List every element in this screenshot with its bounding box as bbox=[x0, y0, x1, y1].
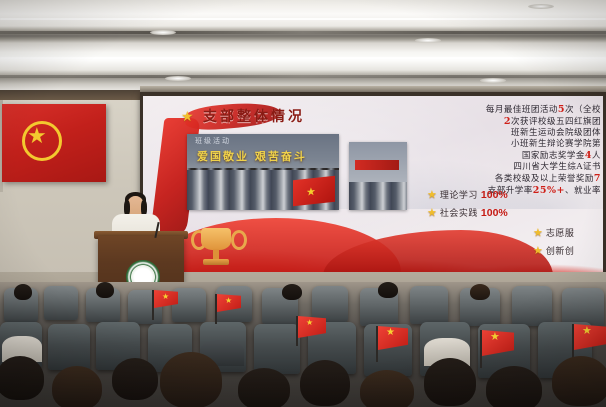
bullet-label: 创新创 bbox=[546, 244, 575, 257]
slide-bullet-list-secondary: ★ 志愿服 ★ 创新创 bbox=[533, 226, 603, 262]
trophy-handle bbox=[231, 230, 247, 250]
audience-head bbox=[14, 284, 32, 300]
flag-star-icon: ★ bbox=[490, 333, 500, 341]
bullet-item: ★ 社会实践 100% bbox=[427, 206, 557, 219]
slide-photo-main: 班级活动 爱国敬业 艰苦奋斗 ★ bbox=[187, 134, 339, 210]
trophy-base bbox=[203, 259, 229, 265]
bullet-label: 社会实践 bbox=[440, 206, 478, 219]
bullet-value: 100% bbox=[481, 207, 508, 219]
youth-league-flag: ★ bbox=[2, 104, 106, 182]
flag-pole bbox=[296, 316, 298, 346]
bullet-label: 理论学习 bbox=[440, 188, 478, 201]
trophy-cup bbox=[201, 228, 231, 250]
ceiling-fixture bbox=[528, 4, 554, 9]
audience-head bbox=[160, 352, 222, 407]
bullet-item: ★ 理论学习 100% bbox=[427, 188, 557, 201]
line-number: 5 bbox=[558, 104, 565, 115]
line-tail: 次（全校 bbox=[565, 105, 601, 115]
slide-title: 支部整体情况 bbox=[203, 106, 305, 126]
ceiling bbox=[0, 0, 606, 96]
line-tail: 人 bbox=[592, 151, 601, 161]
slide-text-line: 每月最佳班团活动5次（全校 bbox=[431, 104, 601, 116]
photo-caption-main: 爱国敬业 艰苦奋斗 bbox=[197, 148, 307, 164]
seat bbox=[44, 286, 78, 320]
bullet-value: 100% bbox=[481, 189, 508, 201]
slide-text-line: 2次获评校级五四红旗团 bbox=[431, 116, 601, 128]
bullet-star-icon: ★ bbox=[533, 244, 543, 257]
bullet-star-icon: ★ bbox=[533, 226, 543, 239]
flag-pole bbox=[376, 326, 378, 362]
line-tail: 次获评校级五四红旗团 bbox=[511, 117, 601, 127]
line-text: 国家励志奖学金 bbox=[522, 151, 585, 161]
audience-head bbox=[300, 360, 350, 406]
photo-caption-sub: 班级活动 bbox=[195, 136, 231, 146]
bullet-star-icon: ★ bbox=[427, 188, 437, 201]
slide-text-column: 每月最佳班团活动5次（全校 2次获评校级五四红旗团 班新生运动会院级团体 小班新… bbox=[431, 104, 601, 197]
photo-league-flag: ★ bbox=[293, 176, 335, 206]
ceiling-rail bbox=[0, 75, 606, 78]
seat bbox=[48, 324, 90, 370]
audience-area: ★ ★ ★ ★ ★ ★ bbox=[0, 282, 606, 407]
flag-star-icon: ★ bbox=[306, 319, 313, 327]
flag-star-icon: ★ bbox=[162, 293, 169, 301]
slide-text-line: 小班新生辩论赛学院第 bbox=[431, 139, 601, 150]
audience-head bbox=[96, 282, 114, 298]
projection-screen: ★ 支部整体情况 班级活动 爱国敬业 艰苦奋斗 ★ bbox=[143, 96, 603, 278]
photo-crowd-row bbox=[349, 182, 407, 210]
flag-pole bbox=[152, 290, 154, 320]
ceiling-fixture bbox=[165, 76, 191, 81]
line-number: 7 bbox=[594, 173, 601, 184]
line-text: 每月最佳班团活动 bbox=[486, 105, 558, 115]
line-text: 各类校级及以上荣誉奖励 bbox=[495, 174, 594, 184]
ceiling-fixture bbox=[415, 38, 441, 43]
seat bbox=[312, 286, 348, 322]
flag-star-icon: ★ bbox=[386, 329, 395, 337]
audience-head bbox=[52, 366, 102, 407]
slide-trophy-icon bbox=[183, 226, 253, 272]
flag-star-icon: ★ bbox=[582, 327, 592, 335]
slide-text-line: 班新生运动会院级团体 bbox=[431, 128, 601, 139]
slide-text-line: 四川省大学生综A证书 bbox=[431, 162, 601, 173]
bullet-item: ★ 创新创 bbox=[533, 244, 603, 257]
audience-head bbox=[378, 282, 398, 298]
seat bbox=[512, 286, 552, 326]
audience-head bbox=[0, 356, 44, 400]
line-number: 4 bbox=[585, 150, 592, 161]
slide-photo-secondary bbox=[349, 142, 407, 210]
slide-text-line: 国家励志奖学金4人 bbox=[431, 150, 601, 162]
line-number: 2 bbox=[504, 116, 511, 127]
audience-head bbox=[486, 366, 542, 407]
audience-head bbox=[238, 368, 290, 407]
line-tail: 、就业率 bbox=[565, 186, 601, 196]
bullet-label: 志愿服 bbox=[546, 226, 575, 239]
seat bbox=[410, 286, 448, 324]
photo-flag-star-icon: ★ bbox=[306, 185, 316, 199]
ceiling-rail bbox=[0, 31, 606, 34]
audience-head bbox=[424, 358, 476, 406]
wall-trim bbox=[0, 90, 140, 100]
flag-star-icon: ★ bbox=[27, 125, 47, 147]
photo-banner bbox=[355, 160, 399, 170]
bullet-item: ★ 志愿服 bbox=[533, 226, 603, 239]
seat bbox=[254, 324, 300, 374]
slide-text-line: 各类校级及以上荣誉奖励7 bbox=[431, 173, 601, 185]
audience-head bbox=[360, 370, 414, 407]
trophy-stem bbox=[213, 249, 219, 259]
ceiling-light-tube bbox=[0, 18, 606, 20]
flag-star-icon: ★ bbox=[225, 297, 232, 305]
ceiling-fixture bbox=[480, 78, 506, 83]
flag-cloth: ★ bbox=[574, 324, 606, 350]
flag-pole bbox=[215, 294, 217, 324]
audience-head bbox=[282, 284, 302, 300]
audience-head bbox=[470, 284, 490, 300]
slide-bullet-list: ★ 理论学习 100% ★ 社会实践 100% bbox=[427, 188, 557, 224]
audience-head bbox=[112, 358, 158, 400]
flag-pole bbox=[480, 330, 482, 368]
ceiling-light-tube bbox=[0, 57, 606, 59]
bullet-star-icon: ★ bbox=[427, 206, 437, 219]
screenshot-root: ★ ★ 支部整体情况 班级活动 爱国敬业 艰苦奋斗 ★ bbox=[0, 0, 606, 407]
ceiling-fixture bbox=[150, 30, 176, 35]
audience-head bbox=[552, 356, 606, 406]
slide-title-star-icon: ★ bbox=[181, 108, 194, 125]
